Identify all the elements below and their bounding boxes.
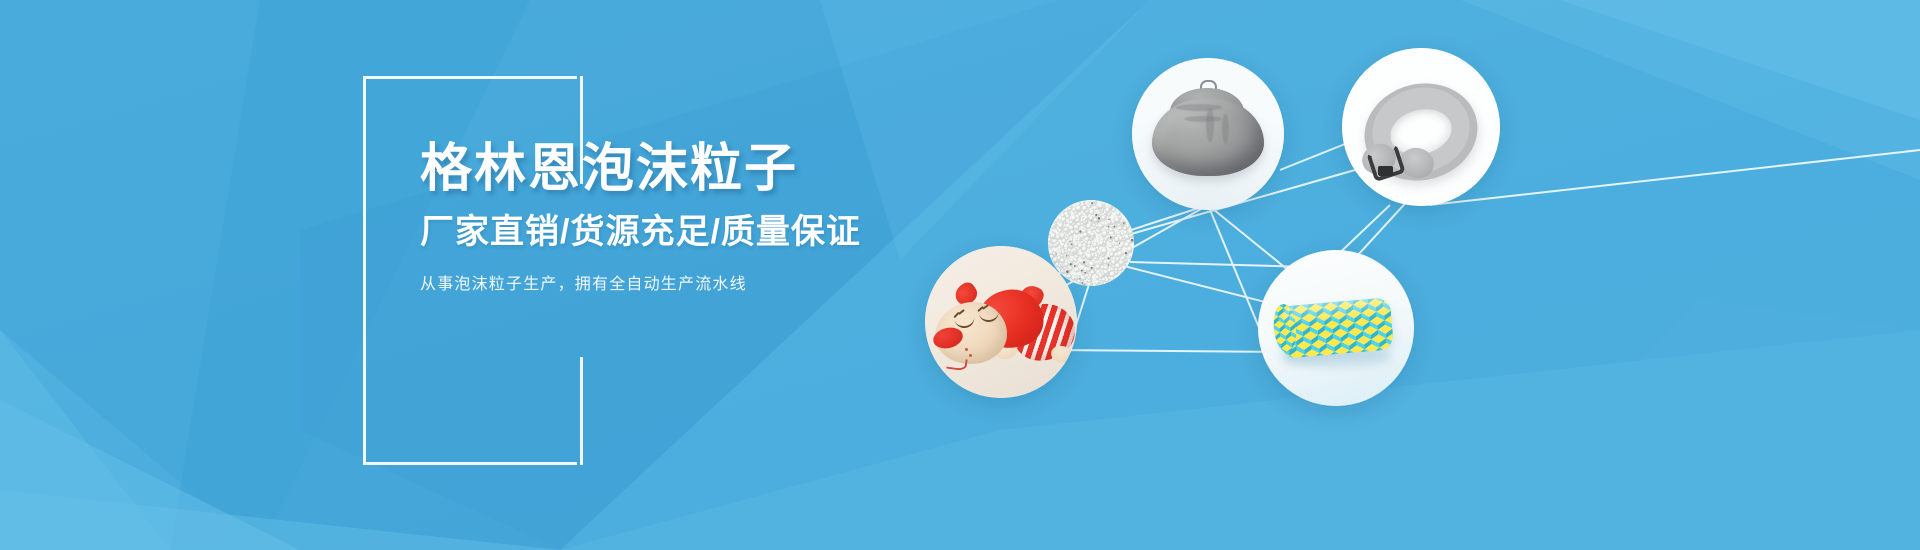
brand-title: 格林恩泡沫粒子 [420, 140, 980, 198]
product-constellation [960, 0, 1920, 550]
bean-bag-chair-photo [1132, 58, 1284, 210]
banner-subtext: 从事泡沫粒子生产，拥有全自动生产流水线 [420, 275, 980, 296]
plush-animal-toy-photo [925, 246, 1077, 398]
banner-tagline: 厂家直销/货源充足/质量保证 [420, 212, 980, 253]
banner-text-block: 格林恩泡沫粒子 厂家直销/货源充足/质量保证 从事泡沫粒子生产，拥有全自动生产流… [420, 140, 980, 296]
promotional-banner: 格林恩泡沫粒子 厂家直销/货源充足/质量保证 从事泡沫粒子生产，拥有全自动生产流… [0, 0, 1920, 550]
checkered-bolster-photo [1258, 250, 1414, 406]
product-bubble-plush-toy[interactable] [925, 246, 1077, 398]
bracket-bottom-right-stub [580, 357, 583, 465]
product-bubble-bolster-pillow[interactable] [1258, 250, 1414, 406]
product-bubble-neck-pillow[interactable] [1342, 48, 1500, 206]
u-shape-neck-pillow-photo [1342, 48, 1500, 206]
product-bubble-beanbag[interactable] [1132, 58, 1284, 210]
